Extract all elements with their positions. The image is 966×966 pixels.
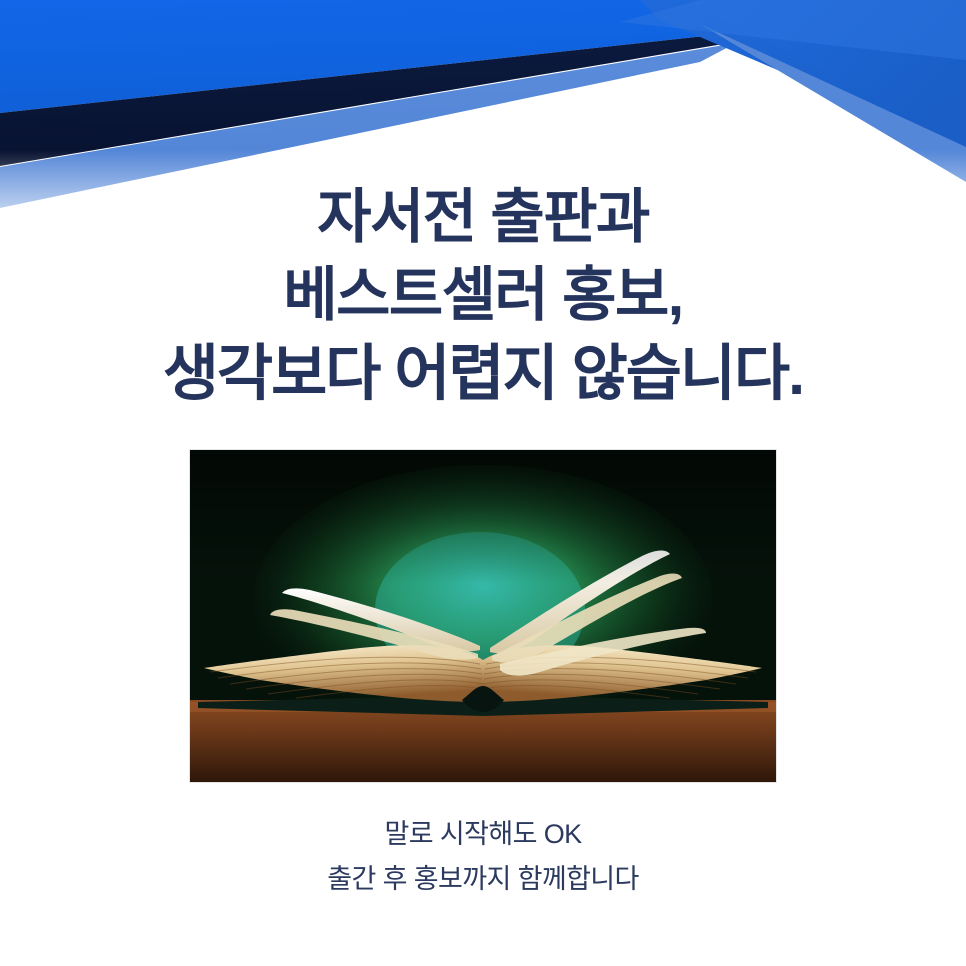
top-right-diagonal-wedge	[688, 0, 966, 147]
headline-line-1: 자서전 출판과	[0, 178, 966, 256]
caption-line-1: 말로 시작해도 OK	[0, 812, 966, 857]
top-left-blue-band	[0, 0, 760, 113]
top-right-light-blue-edge	[700, 24, 966, 182]
promo-card: 자서전 출판과 베스트셀러 홍보, 생각보다 어렵지 않습니다.	[0, 0, 966, 966]
top-right-blue-fill	[330, 0, 966, 148]
open-book-photo	[190, 450, 776, 782]
caption-text: 말로 시작해도 OK 출간 후 홍보까지 함께합니다	[0, 812, 966, 902]
headline-line-2: 베스트셀러 홍보,	[0, 256, 966, 334]
page-title: 자서전 출판과 베스트셀러 홍보, 생각보다 어렵지 않습니다.	[0, 178, 966, 412]
caption-line-2: 출간 후 홍보까지 함께합니다	[0, 857, 966, 902]
open-book-photo-frame	[190, 450, 776, 782]
top-right-blue-triangle	[640, 0, 966, 150]
top-right-blue-triangle-body	[330, 0, 966, 152]
photo-vignette	[190, 450, 776, 782]
headline-line-3: 생각보다 어렵지 않습니다.	[0, 334, 966, 412]
top-right-sheen	[620, 0, 966, 60]
top-left-navy-band	[0, 30, 760, 166]
